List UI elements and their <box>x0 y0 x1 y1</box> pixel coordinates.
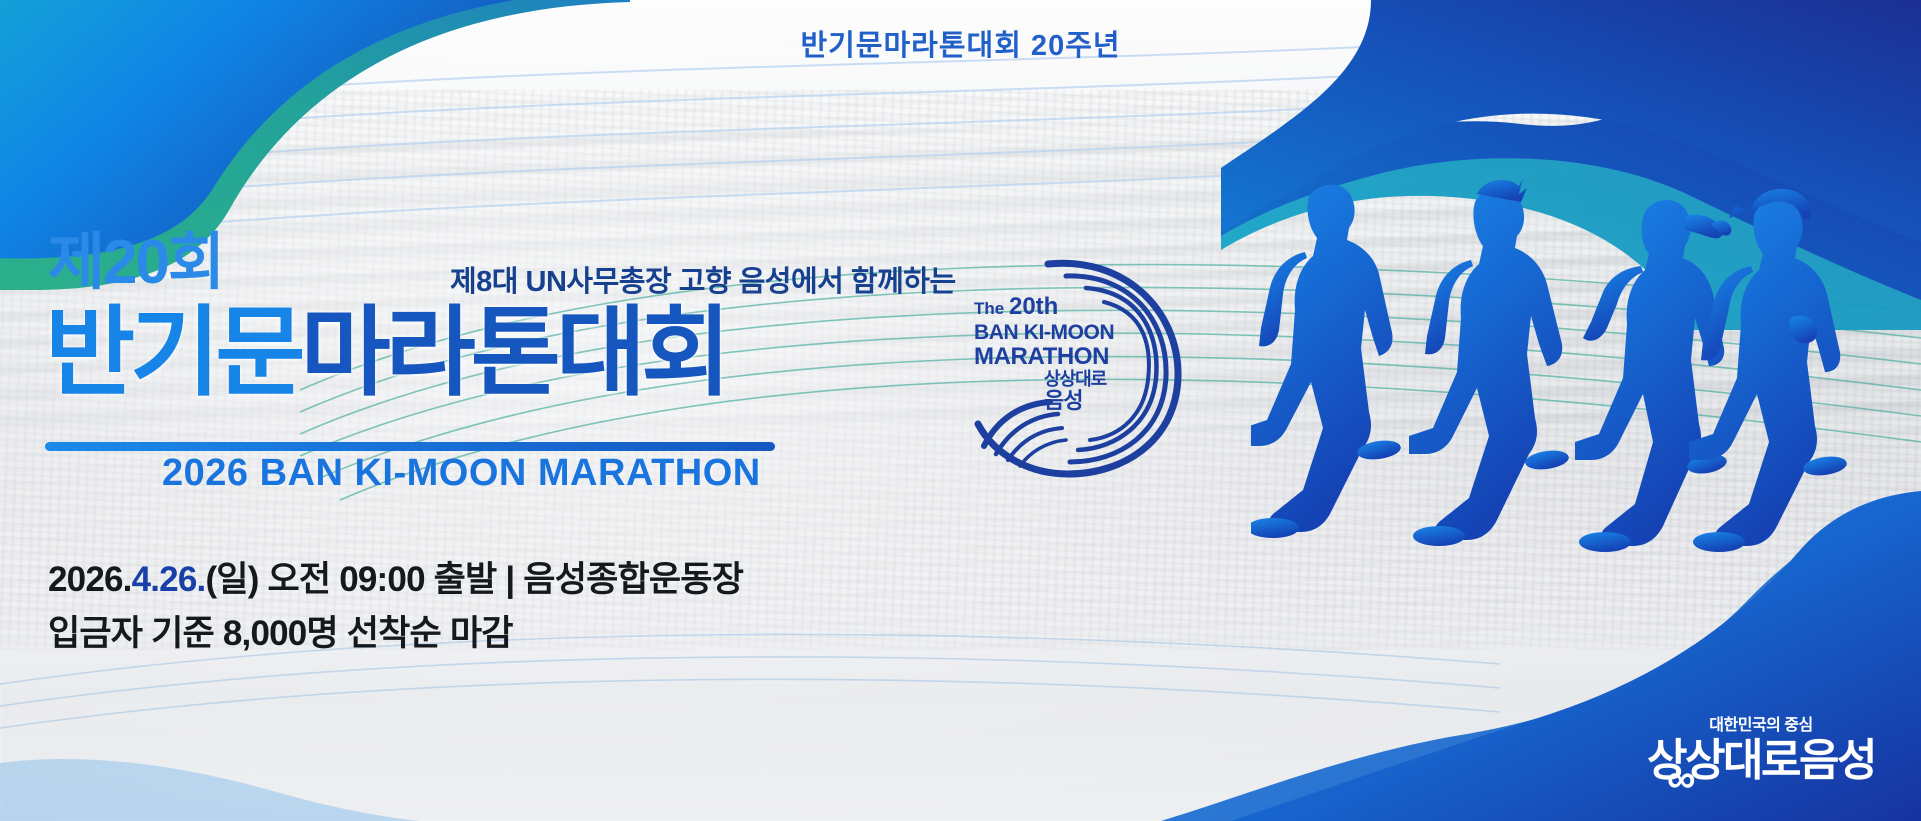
emblem-ordinal-line: The 20th <box>974 294 1114 321</box>
emblem-county-mark: 상상대로 음성 <box>1044 370 1106 412</box>
main-title-part-a: 반기문 <box>45 297 300 407</box>
capacity-notice: 입금자 기준 8,000명 선착순 마감 <box>48 605 513 656</box>
emblem-the: The <box>974 299 1004 318</box>
county-name-b: 음성 <box>1799 736 1875 785</box>
subtitle-line: 제8대 UN사무총장 고향 음성에서 함께하는 <box>450 258 956 300</box>
emblem-mark-top: 상상대로 <box>1044 370 1106 388</box>
emblem-text-block: The 20th BAN KI-MOON MARATHON <box>974 294 1114 371</box>
event-date-line: 2026.4.26.(일) 오전 09:00 출발 | 음성종합운동장 <box>48 551 743 602</box>
main-title: 반기문마라톤대회 <box>45 300 726 406</box>
date-daytime-venue: (일) 오전 09:00 출발 | 음성종합운동장 <box>205 560 743 599</box>
emblem-mark-bottom: 음성 <box>1044 390 1106 412</box>
emblem-event-line: MARATHON <box>974 344 1114 371</box>
title-underline-bar <box>45 442 775 451</box>
background-vignette <box>0 0 1921 821</box>
top-anniversary-headline: 반기문마라톤대회 20주년 <box>0 22 1921 64</box>
county-tagline: 대한민국의 중심 <box>1643 718 1879 734</box>
main-title-part-b: 마라톤대회 <box>300 297 726 407</box>
emblem-name-line: BAN KI-MOON <box>974 321 1114 345</box>
date-year: 2026. <box>48 560 132 599</box>
marathon-emblem: The 20th BAN KI-MOON MARATHON 상상대로 음성 <box>962 248 1192 483</box>
date-month-day: 4.26. <box>132 560 206 599</box>
county-brand-logo: 대한민국의 중심 상상대로음성 ∞ <box>1643 718 1879 783</box>
marathon-promo-banner: 반기문마라톤대회 20주년 제20회 제8대 UN사무총장 고향 음성에서 함께… <box>0 0 1921 821</box>
infinity-icon: ∞ <box>1667 759 1693 799</box>
english-title: 2026 BAN KI-MOON MARATHON <box>162 452 761 495</box>
edition-number: 제20회 <box>48 232 223 294</box>
emblem-ordinal: 20th <box>1009 293 1058 320</box>
county-name: 상상대로음성 ∞ <box>1643 739 1879 783</box>
